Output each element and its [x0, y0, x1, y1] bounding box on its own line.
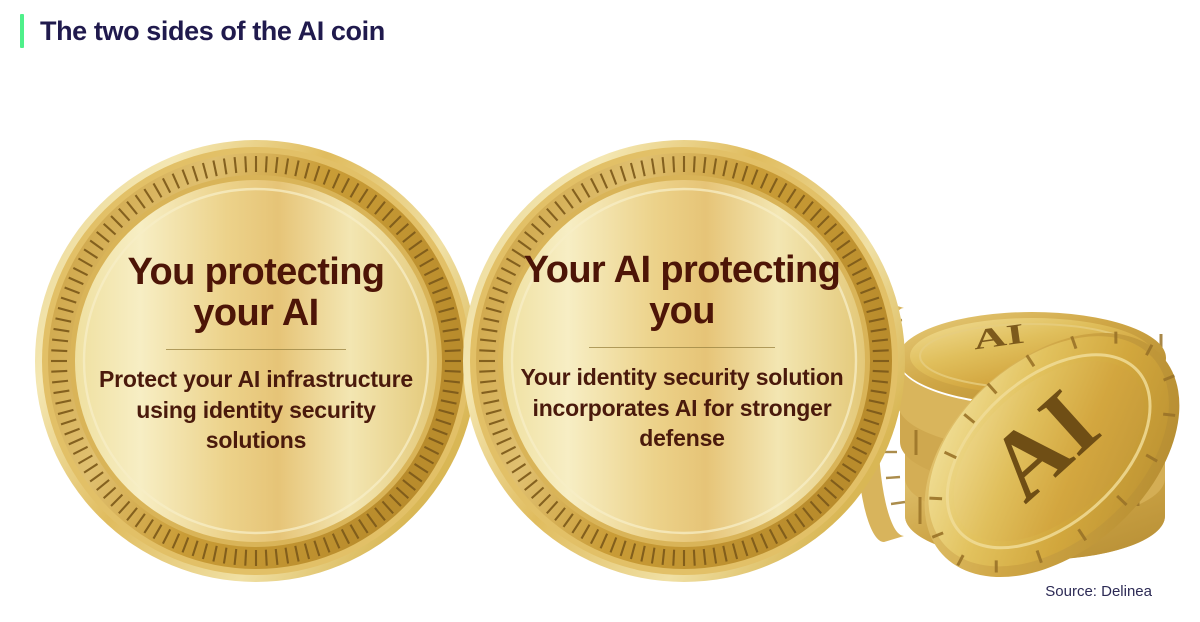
coin-left-body: Protect your AI infrastructure using ide… [96, 364, 416, 456]
coin-left-content: You protecting your AI Protect your AI i… [96, 252, 416, 456]
accent-bar [20, 14, 24, 48]
coin-right-heading: Your AI protecting you [518, 250, 846, 331]
coin-right-body: Your identity security solution incorpor… [518, 362, 846, 454]
header: The two sides of the AI coin [20, 14, 385, 48]
coin-left-heading: You protecting your AI [96, 252, 416, 333]
coin-right-divider [589, 347, 775, 348]
page-title: The two sides of the AI coin [40, 16, 385, 47]
coin-right-content: Your AI protecting you Your identity sec… [518, 250, 846, 454]
source-attribution: Source: Delinea [1045, 583, 1152, 600]
coin-left-divider [166, 349, 346, 350]
